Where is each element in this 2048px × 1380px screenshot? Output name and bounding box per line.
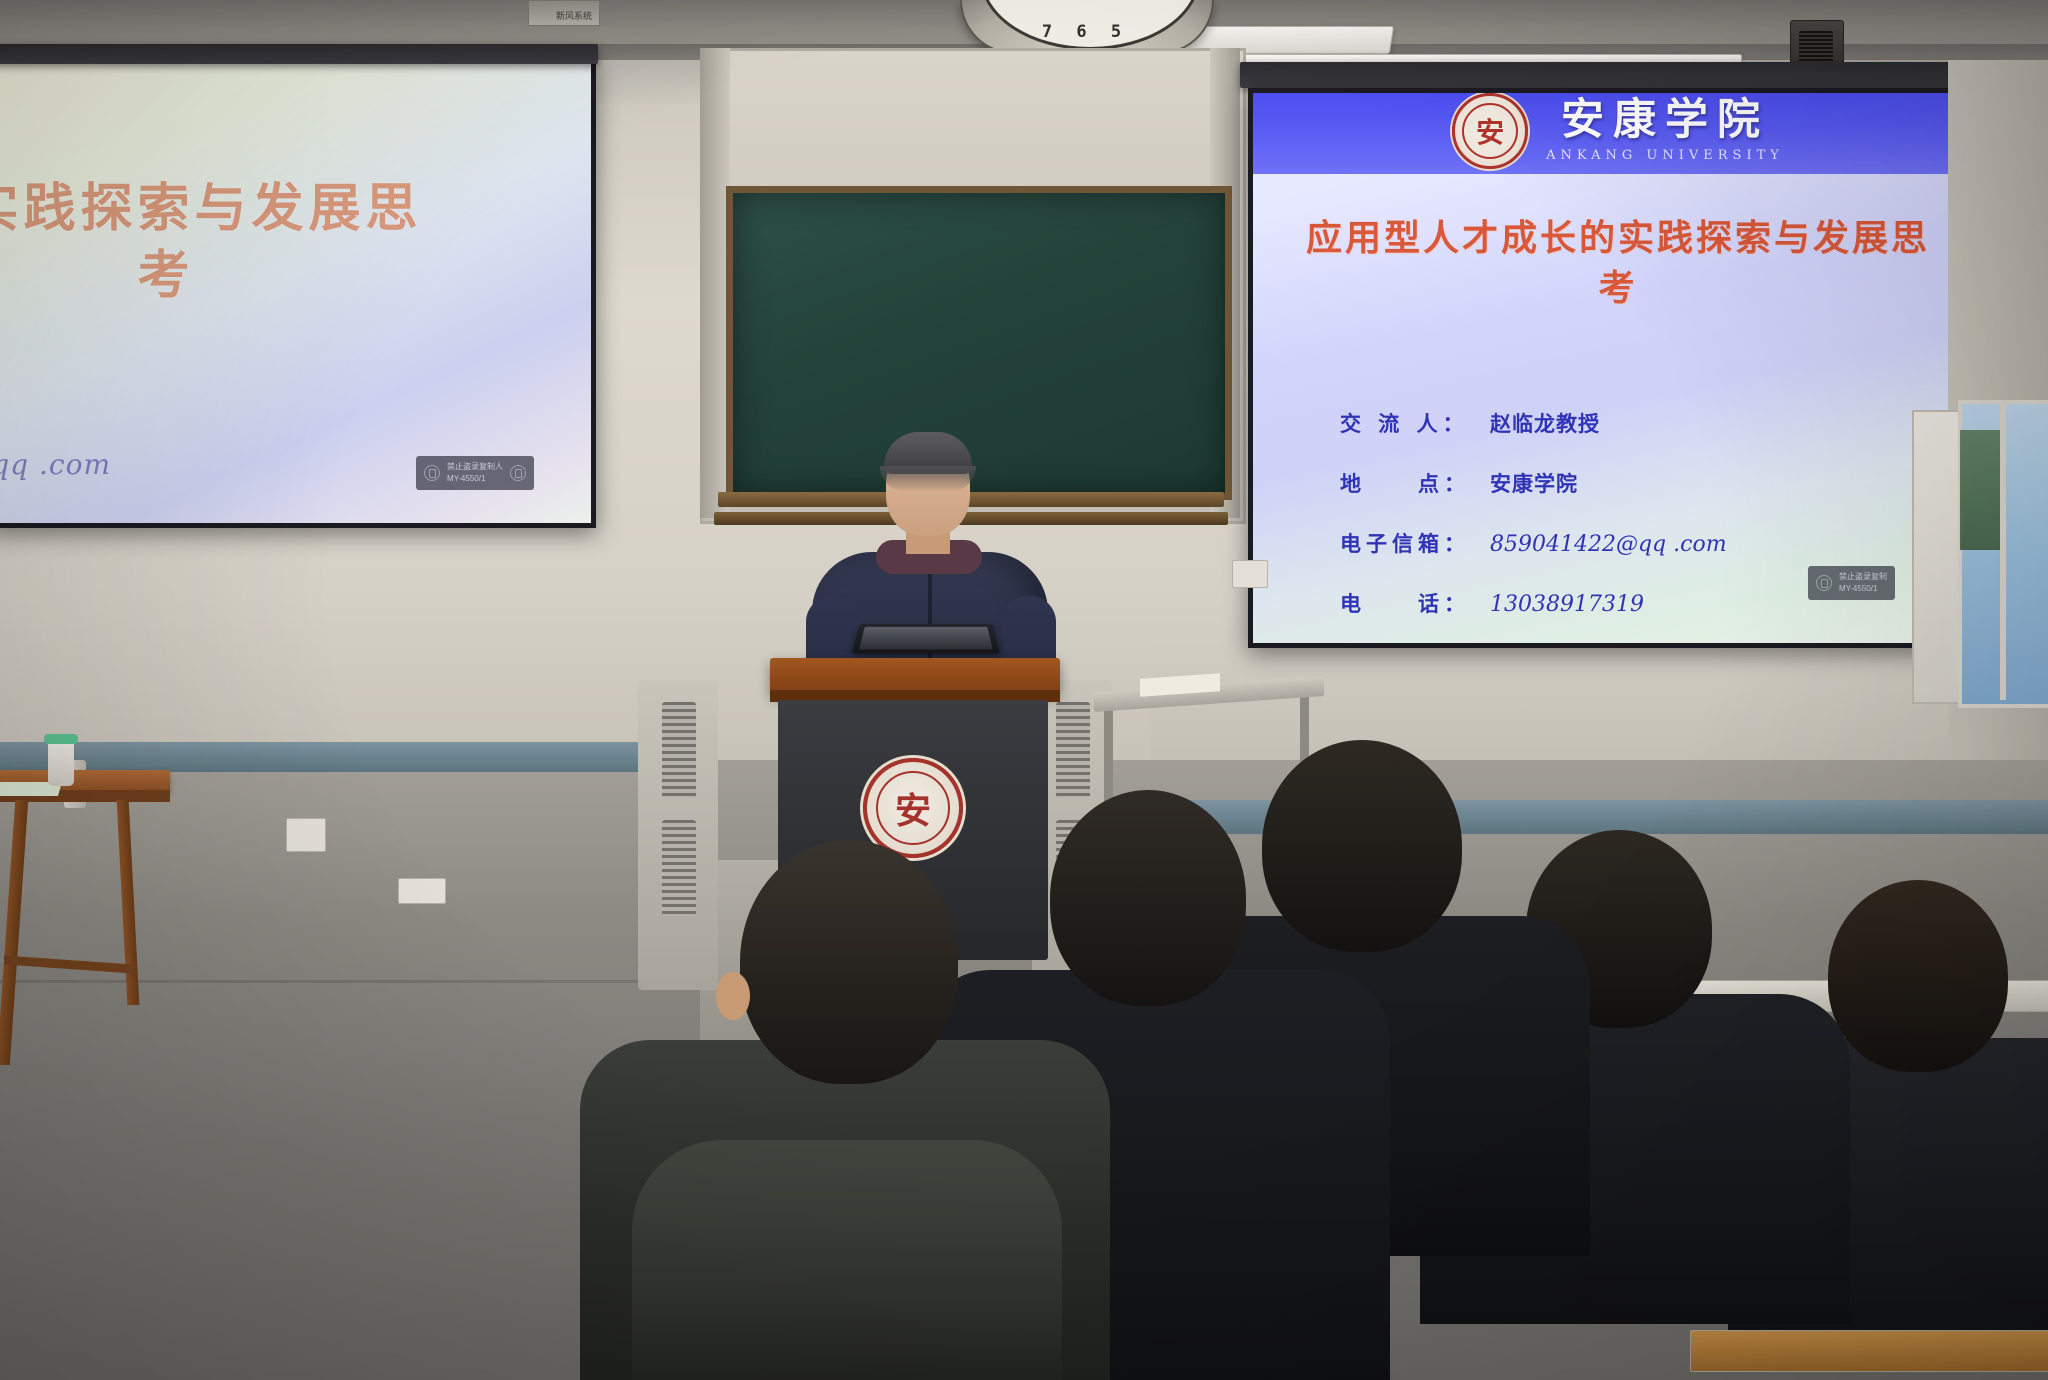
ankang-name-cn: 安康学院 [1561,99,1769,142]
chalk-tray-lower [714,512,1228,525]
bench-row-4 [1690,1330,2048,1372]
lecture-hall-scene: 新风系统 7 6 5 的实践探索与发展思考 @qq .com 禁止盗录复制人 M… [0,0,2048,1380]
audience-member [620,840,1060,1380]
clock-digits: 7 6 5 [965,22,1205,42]
right-watermark-line1: 禁止盗录复制 [1839,572,1887,581]
wall-outlet-3[interactable] [1232,560,1268,588]
lock-icon [424,465,440,481]
wall-outlet-1[interactable] [286,818,326,852]
lock-icon [1816,575,1832,591]
right-slide-title: 应用型人才成长的实践探索与发展思考 [1268,214,1968,313]
info-row-presenter: 交 流 人： 赵临龙教授 [1340,408,1960,438]
right-screen-case [1240,62,1992,88]
cup [48,740,74,786]
left-watermark-lines: 禁止盗录复制人 MY-4550/1 [447,461,503,485]
monitor-screen [859,627,993,650]
window-foliage [1960,430,2000,550]
chalk-tray-upper [718,492,1224,507]
seal-mark: 安 [1476,111,1504,151]
left-watermark-line2: MY-4550/1 [447,474,485,483]
audience-head [1050,790,1246,1006]
podium-monitor[interactable] [852,624,1000,654]
projection-screen-right[interactable]: 安 安康学院 ANKANG UNIVERSITY 应用型人才成长的实践探索与发展… [1248,88,1988,648]
audience-head [740,840,958,1084]
baseboard-left [0,742,700,772]
left-screen-watermark: 禁止盗录复制人 MY-4550/1 [416,456,534,490]
right-slide-info-list: 交 流 人： 赵临龙教授 地 点： 安康学院 电子信箱： 859041422@q… [1340,408,1960,648]
window-mullion [2000,400,2006,700]
projection-screen-left[interactable]: 的实践探索与发展思考 @qq .com 禁止盗录复制人 MY-4550/1 [0,58,596,528]
wall-outlet-2[interactable] [398,878,446,904]
air-vent-label: 新风系统 [556,9,592,22]
right-watermark-line2: MY-4550/1 [1839,584,1877,593]
speaker-hair-side [880,466,976,492]
info-value-place: 安康学院 [1490,468,1578,498]
info-value-email: 859041422@qq .com [1490,532,1727,557]
audience-shoulders [632,1140,1062,1380]
podium-emblem-mark: 安 [895,782,931,834]
info-label-presenter: 交 流 人： [1340,408,1490,438]
cup-lid [44,734,78,744]
audience-ear [716,972,750,1020]
left-slide-email: @qq .com [0,448,111,481]
ankang-seal-icon: 安 [1452,93,1528,169]
right-screen-watermark: 禁止盗录复制 MY-4550/1 [1808,566,1895,600]
info-row-email: 电子信箱： 859041422@qq .com [1340,528,1960,558]
left-screen-case [0,44,598,64]
slide-logo-band: 安 安康学院 ANKANG UNIVERSITY [1248,88,1988,174]
info-value-presenter: 赵临龙教授 [1490,408,1600,438]
left-watermark-line1: 禁止盗录复制人 [447,462,503,471]
blackboard [726,186,1232,500]
left-slide-title: 的实践探索与发展思考 [0,176,596,309]
right-watermark-lines: 禁止盗录复制 MY-4550/1 [1839,571,1887,595]
ankang-wordmark: 安康学院 ANKANG UNIVERSITY [1546,99,1784,163]
podium-speaker-grille-icon [662,702,696,798]
podium-speaker-grille-icon [1056,702,1090,798]
audience-head [1828,880,2008,1072]
info-value-phone: 13038917319 [1490,592,1644,617]
podium-desktop [770,658,1060,694]
info-label-email: 电子信箱： [1340,528,1490,558]
info-label-phone: 电 话： [1340,588,1490,618]
ankang-name-en: ANKANG UNIVERSITY [1546,148,1784,163]
info-label-place: 地 点： [1340,468,1490,498]
shield-icon [510,465,526,481]
info-row-place: 地 点： 安康学院 [1340,468,1960,498]
